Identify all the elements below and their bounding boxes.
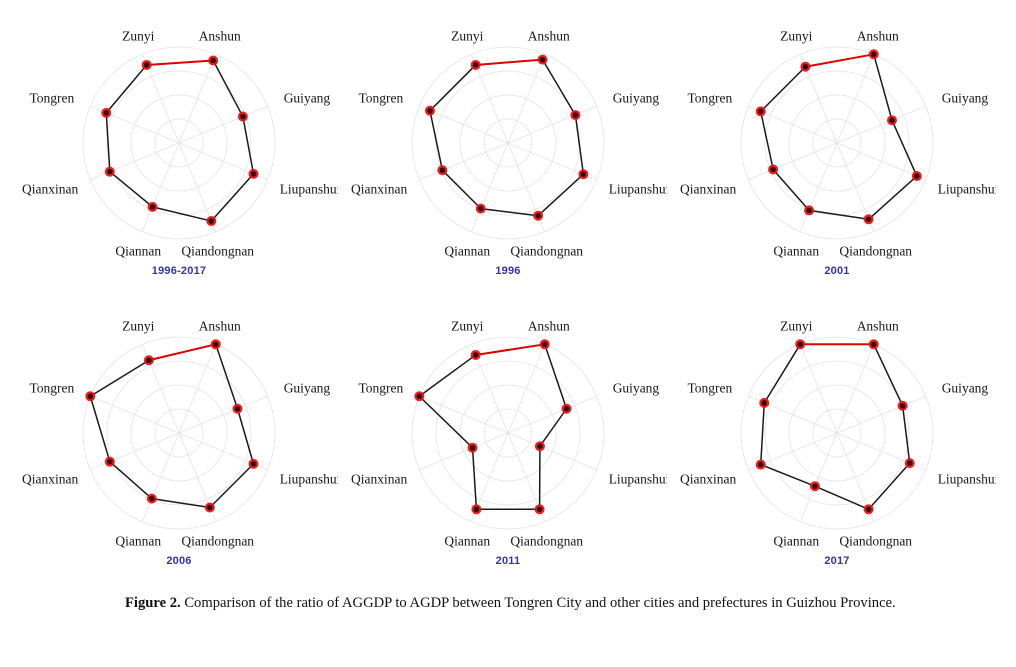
axis-label-Zunyi: Zunyi	[451, 28, 483, 43]
radar-chart-cell-2001: AnshunGuiyangLiupanshuiQiandongnanQianna…	[673, 8, 1002, 298]
axis-label-Zunyi: Zunyi	[122, 28, 154, 43]
axis-label-Liupanshui: Liupanshui	[938, 182, 996, 197]
radar-chart-2006: AnshunGuiyangLiupanshuiQiandongnanQianna…	[20, 298, 338, 588]
axis-label-Qiannan: Qiannan	[444, 244, 490, 259]
figure-caption-label: Figure 2.	[125, 595, 181, 611]
axis-label-Guiyang: Guiyang	[942, 90, 989, 105]
figure-caption-text: Comparison of the ratio of AGGDP to AGDP…	[181, 595, 896, 611]
radar-series-line	[761, 54, 917, 219]
axis-label-Guiyang: Guiyang	[613, 380, 660, 395]
radar-data-points	[756, 49, 922, 224]
radar-plot-2017: AnshunGuiyangLiupanshuiQiandongnanQianna…	[678, 298, 996, 588]
radar-chart-2017: AnshunGuiyangLiupanshuiQiandongnanQianna…	[678, 298, 996, 588]
axis-label-Tongren: Tongren	[358, 380, 403, 395]
radar-chart-cell-1996-2017: AnshunGuiyangLiupanshuiQiandongnanQianna…	[14, 8, 343, 298]
axis-label-Zunyi: Zunyi	[781, 318, 813, 333]
axis-label-Qianxinan: Qianxinan	[351, 472, 407, 487]
chart-year-label: 2006	[166, 555, 191, 567]
radar-plot-1996-2017: AnshunGuiyangLiupanshuiQiandongnanQianna…	[20, 8, 338, 298]
axis-label-Guiyang: Guiyang	[283, 90, 330, 105]
chart-year-label: 2011	[496, 555, 521, 567]
axis-label-Qiannan: Qiannan	[774, 534, 820, 549]
axis-label-Tongren: Tongren	[688, 90, 733, 105]
radar-gridlines	[83, 337, 275, 529]
axis-label-Qianxinan: Qianxinan	[680, 182, 736, 197]
axis-label-Qiannan: Qiannan	[115, 534, 161, 549]
radar-chart-2001: AnshunGuiyangLiupanshuiQiandongnanQianna…	[678, 8, 996, 298]
axis-label-Guiyang: Guiyang	[942, 380, 989, 395]
radar-gridlines	[741, 337, 933, 529]
axis-label-Anshun: Anshun	[198, 318, 240, 333]
figure-caption: Figure 2. Comparison of the ratio of AGG…	[125, 592, 917, 616]
radar-chart-cell-1996: AnshunGuiyangLiupanshuiQiandongnanQianna…	[343, 8, 672, 298]
axis-label-Qianxinan: Qianxinan	[680, 472, 736, 487]
axis-label-Qiannan: Qiannan	[115, 244, 161, 259]
axis-label-Liupanshui: Liupanshui	[609, 472, 667, 487]
radar-chart-2011: AnshunGuiyangLiupanshuiQiandongnanQianna…	[349, 298, 667, 588]
radar-chart-grid: AnshunGuiyangLiupanshuiQiandongnanQianna…	[0, 0, 1016, 585]
axis-label-Zunyi: Zunyi	[451, 318, 483, 333]
axis-label-Guiyang: Guiyang	[283, 380, 330, 395]
axis-label-Qianxinan: Qianxinan	[22, 182, 78, 197]
radar-data-points	[425, 55, 588, 221]
radar-chart-cell-2006: AnshunGuiyangLiupanshuiQiandongnanQianna…	[14, 298, 343, 588]
axis-label-Liupanshui: Liupanshui	[279, 472, 337, 487]
radar-gridlines	[741, 47, 933, 239]
radar-series-line	[90, 344, 253, 507]
axis-label-Qianxinan: Qianxinan	[22, 472, 78, 487]
axis-label-Qiandongnan: Qiandongnan	[840, 534, 913, 549]
radar-plot-1996: AnshunGuiyangLiupanshuiQiandongnanQianna…	[349, 8, 667, 298]
axis-label-Tongren: Tongren	[358, 90, 403, 105]
axis-label-Tongren: Tongren	[688, 380, 733, 395]
axis-label-Qiandongnan: Qiandongnan	[181, 244, 254, 259]
axis-label-Qiandongnan: Qiandongnan	[840, 244, 913, 259]
axis-label-Liupanshui: Liupanshui	[279, 182, 337, 197]
figure-2-root: AnshunGuiyangLiupanshuiQiandongnanQianna…	[0, 0, 1016, 667]
radar-chart-cell-2017: AnshunGuiyangLiupanshuiQiandongnanQianna…	[673, 298, 1002, 588]
axis-label-Anshun: Anshun	[198, 28, 240, 43]
chart-year-label: 1996	[495, 265, 520, 277]
radar-gridlines	[412, 337, 604, 529]
axis-label-Qiandongnan: Qiandongnan	[510, 534, 583, 549]
axis-label-Tongren: Tongren	[29, 90, 74, 105]
axis-label-Anshun: Anshun	[528, 318, 570, 333]
radar-gridlines	[412, 47, 604, 239]
axis-label-Guiyang: Guiyang	[613, 90, 660, 105]
radar-gridlines	[83, 47, 275, 239]
axis-label-Anshun: Anshun	[528, 28, 570, 43]
axis-label-Qianxinan: Qianxinan	[351, 182, 407, 197]
radar-plot-2001: AnshunGuiyangLiupanshuiQiandongnanQianna…	[678, 8, 996, 298]
radar-plot-2011: AnshunGuiyangLiupanshuiQiandongnanQianna…	[349, 298, 667, 588]
axis-label-Anshun: Anshun	[857, 318, 899, 333]
axis-label-Liupanshui: Liupanshui	[609, 182, 667, 197]
axis-label-Tongren: Tongren	[29, 380, 74, 395]
axis-label-Qiannan: Qiannan	[774, 244, 820, 259]
axis-label-Anshun: Anshun	[857, 28, 899, 43]
axis-label-Qiannan: Qiannan	[444, 534, 490, 549]
chart-year-label: 2017	[825, 555, 850, 567]
axis-label-Qiandongnan: Qiandongnan	[181, 534, 254, 549]
radar-chart-cell-2011: AnshunGuiyangLiupanshuiQiandongnanQianna…	[343, 298, 672, 588]
axis-label-Zunyi: Zunyi	[781, 28, 813, 43]
radar-chart-1996-2017: AnshunGuiyangLiupanshuiQiandongnanQianna…	[20, 8, 338, 298]
radar-charts-area: AnshunGuiyangLiupanshuiQiandongnanQianna…	[0, 0, 1016, 585]
axis-label-Liupanshui: Liupanshui	[938, 472, 996, 487]
radar-plot-2006: AnshunGuiyangLiupanshuiQiandongnanQianna…	[20, 298, 338, 588]
chart-year-label: 1996-2017	[151, 265, 205, 277]
radar-data-points	[756, 339, 915, 514]
radar-chart-1996: AnshunGuiyangLiupanshuiQiandongnanQianna…	[349, 8, 667, 298]
axis-label-Zunyi: Zunyi	[122, 318, 154, 333]
chart-year-label: 2001	[825, 265, 850, 277]
axis-label-Qiandongnan: Qiandongnan	[510, 244, 583, 259]
